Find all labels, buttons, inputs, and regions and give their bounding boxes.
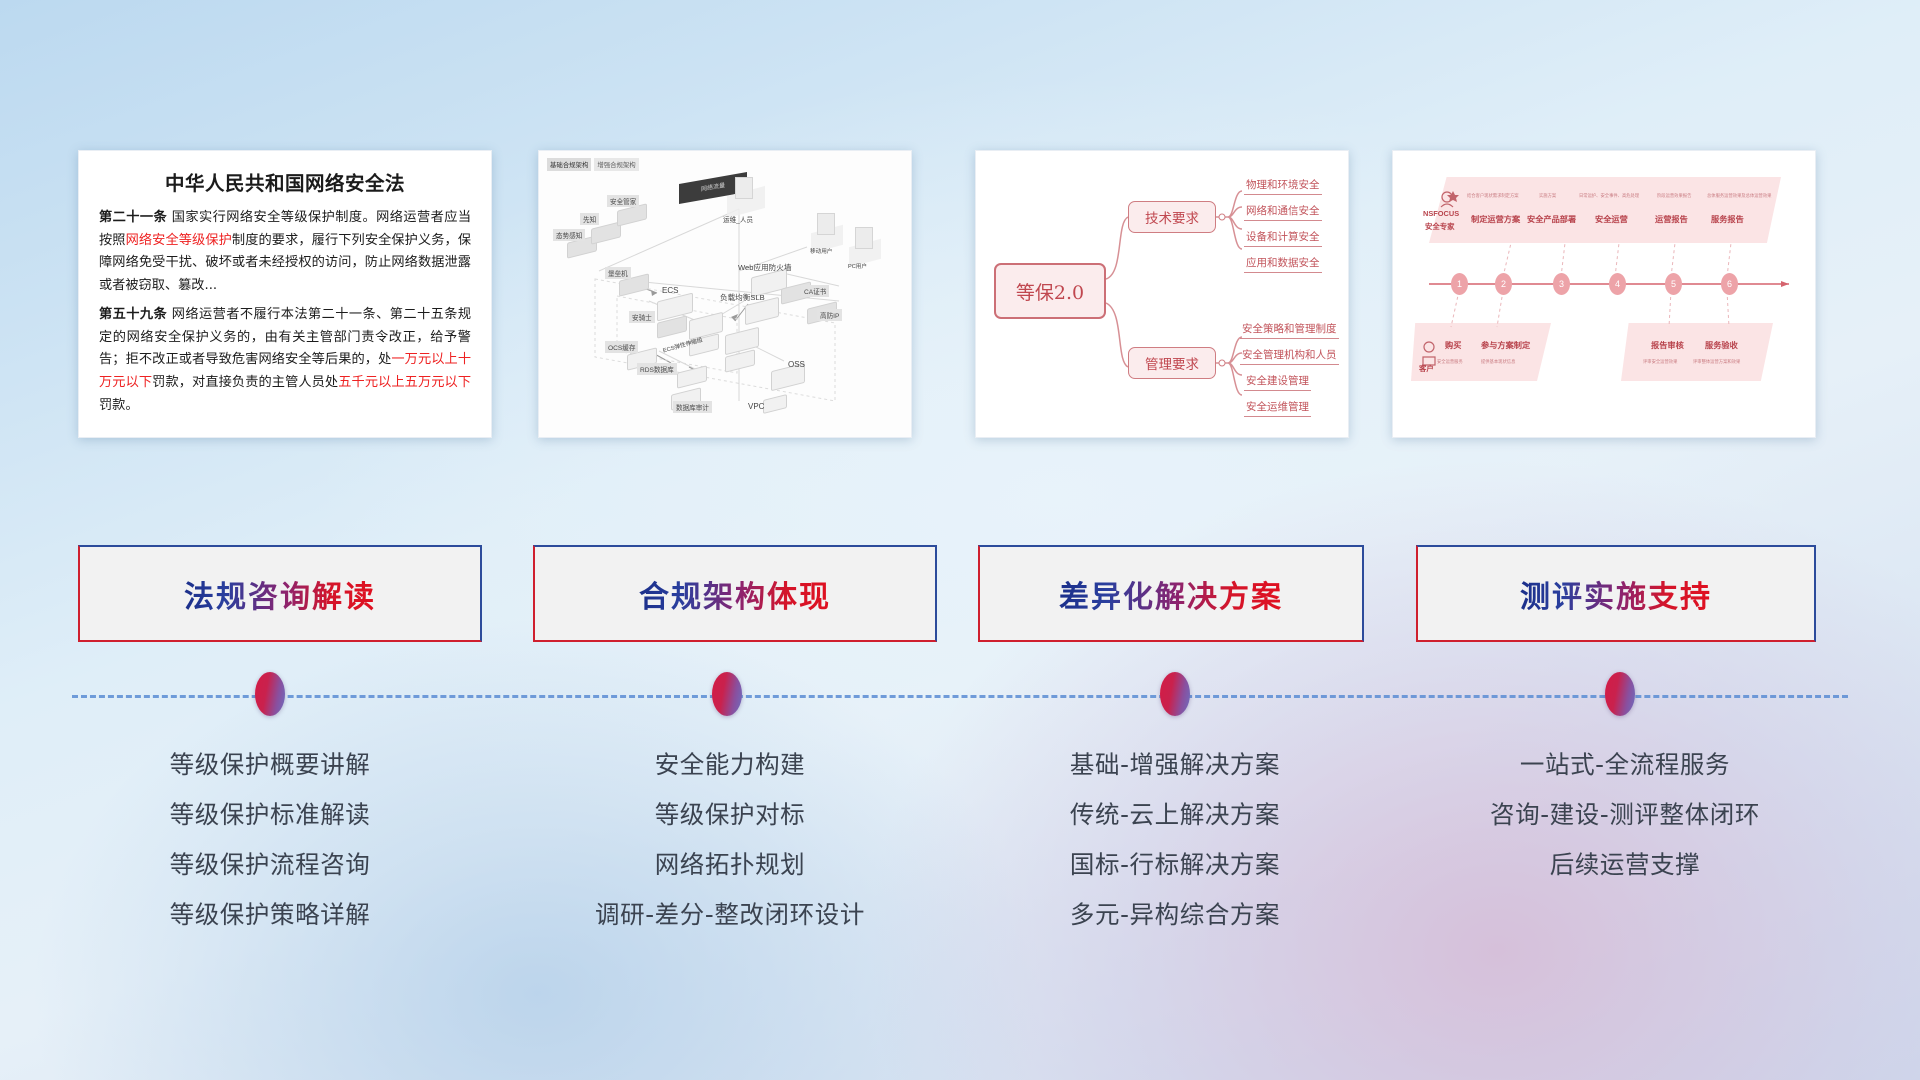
list-item: 等级保护流程咨询 xyxy=(60,840,480,890)
mindmap-diagram: 等保2.0 技术要求 管理要求 物理和环境安全 网络和通信安全 设备和计算安全 … xyxy=(976,151,1348,437)
mindmap-leaf: 网络和通信安全 xyxy=(1244,203,1322,221)
label-db-audit: 数据库审计 xyxy=(673,401,712,413)
law-article-21: 第二十一条 国家实行网络安全等级保护制度。网络运营者应当按照网络安全等级保护制度… xyxy=(99,207,471,298)
label-ocs: OCS缓存 xyxy=(605,341,638,353)
label-situational: 态势感知 xyxy=(553,229,585,241)
heading-box-regulation-consulting[interactable]: 法规咨询解读 xyxy=(78,545,482,642)
label-anqishi: 安骑士 xyxy=(629,311,655,323)
roadmap-step-desc: 阶段运营效果报告 xyxy=(1657,193,1691,199)
label-vpc: VPC xyxy=(745,401,767,412)
preview-card-roadmap[interactable]: NSFOCUS 安全专家 客户 结合客户现状需求制定方案 制定运营方案 实施方案… xyxy=(1392,150,1816,438)
roadmap-step-desc: 总体服务运营效果及总体运营效果 xyxy=(1707,193,1771,199)
roadmap-step-title: 安全运营 xyxy=(1595,213,1628,225)
mindmap-root: 等保2.0 xyxy=(994,263,1106,319)
list-item: 后续运营支撑 xyxy=(1405,840,1845,890)
detail-column-3: 基础-增强解决方案 传统-云上解决方案 国标-行标解决方案 多元-异构综合方案 xyxy=(960,740,1390,940)
roadmap-step-number: 6 xyxy=(1721,273,1738,295)
slide-canvas: 中华人民共和国网络安全法 第二十一条 国家实行网络安全等级保护制度。网络运营者应… xyxy=(0,0,1920,1080)
roadmap-step-title: 服务报告 xyxy=(1711,213,1744,225)
label-xianzhi: 先知 xyxy=(580,213,599,225)
roadmap-step-title: 报告审核 xyxy=(1651,339,1684,351)
cloud-architecture-diagram: 基础合规架构 增强合规架构 xyxy=(539,151,911,437)
label-steward: 安全管家 xyxy=(607,195,639,207)
label-mobile: 移动用户 xyxy=(807,246,835,256)
timeline-dashed-line xyxy=(72,695,1848,698)
mindmap-leaf: 安全运维管理 xyxy=(1244,399,1311,417)
law-article-59: 第五十九条 网络运营者不履行本法第二十一条、第二十五条规定的网络安全保护义务的，… xyxy=(99,304,471,418)
label-rds: RDS数据库 xyxy=(637,363,677,375)
list-item: 国标-行标解决方案 xyxy=(960,840,1390,890)
roadmap-step-number: 5 xyxy=(1665,273,1682,295)
label-gaofang: 高防IP xyxy=(817,309,842,321)
label-pc: PC用户 xyxy=(845,261,870,271)
roadmap-expert-role: 安全专家 xyxy=(1425,221,1455,232)
law-article-21-label: 第二十一条 xyxy=(99,210,167,225)
detail-column-2: 安全能力构建 等级保护对标 网络拓扑规划 调研-差分-整改闭环设计 xyxy=(510,740,950,940)
mindmap-leaf: 安全策略和管理制度 xyxy=(1240,321,1339,339)
mindmap-leaf: 物理和环境安全 xyxy=(1244,177,1322,195)
list-item: 等级保护策略详解 xyxy=(60,890,480,940)
detail-column-1: 等级保护概要讲解 等级保护标准解读 等级保护流程咨询 等级保护策略详解 xyxy=(60,740,480,940)
roadmap-step-desc: 日常运护、安全事件、高危处理 xyxy=(1579,193,1639,199)
roadmap-step-desc: 评审安全运营效果 xyxy=(1643,359,1677,365)
service-roadmap-diagram: NSFOCUS 安全专家 客户 结合客户现状需求制定方案 制定运营方案 实施方案… xyxy=(1393,151,1815,437)
timeline-dot-2[interactable] xyxy=(712,672,742,716)
roadmap-step-number: 1 xyxy=(1451,273,1468,295)
detail-column-4: 一站式-全流程服务 咨询-建设-测评整体闭环 后续运营支撑 xyxy=(1405,740,1845,890)
timeline-dot-4[interactable] xyxy=(1605,672,1635,716)
roadmap-step-desc: 实施方案 xyxy=(1539,193,1556,199)
label-admin: 运维_人员 xyxy=(720,213,756,225)
mindmap-branch-tech: 技术要求 xyxy=(1128,201,1216,233)
law-article-59-label: 第五十九条 xyxy=(99,307,167,322)
heading-label: 合规架构体现 xyxy=(639,572,831,616)
law-document: 中华人民共和国网络安全法 第二十一条 国家实行网络安全等级保护制度。网络运营者应… xyxy=(79,151,491,433)
preview-card-row: 中华人民共和国网络安全法 第二十一条 国家实行网络安全等级保护制度。网络运营者应… xyxy=(0,150,1920,442)
mindmap-leaf: 安全管理机构和人员 xyxy=(1240,347,1339,365)
law-title: 中华人民共和国网络安全法 xyxy=(99,167,471,196)
list-item: 网络拓扑规划 xyxy=(510,840,950,890)
roadmap-step-title: 制定运营方案 xyxy=(1471,213,1520,225)
label-slb: 负载均衡SLB xyxy=(717,291,768,304)
timeline-dot-3[interactable] xyxy=(1160,672,1190,716)
roadmap-step-desc: 结合客户现状需求制定方案 xyxy=(1467,193,1519,199)
heading-label: 法规咨询解读 xyxy=(184,572,376,616)
heading-box-differentiated-solution[interactable]: 差异化解决方案 xyxy=(978,545,1364,642)
label-waf: Web应用防火墙 xyxy=(735,261,794,274)
roadmap-expert-name: NSFOCUS xyxy=(1423,209,1459,218)
list-item: 安全能力构建 xyxy=(510,740,950,790)
roadmap-step-title: 参与方案制定 xyxy=(1481,339,1530,351)
list-item: 等级保护标准解读 xyxy=(60,790,480,840)
roadmap-step-title: 安全产品部署 xyxy=(1527,213,1576,225)
list-item: 咨询-建设-测评整体闭环 xyxy=(1405,790,1845,840)
list-item: 一站式-全流程服务 xyxy=(1405,740,1845,790)
mobile-host-icon xyxy=(817,213,835,235)
heading-label: 测评实施支持 xyxy=(1520,572,1712,616)
detail-column-row: 等级保护概要讲解 等级保护标准解读 等级保护流程咨询 等级保护策略详解 安全能力… xyxy=(0,740,1920,970)
roadmap-step-number: 4 xyxy=(1609,273,1626,295)
roadmap-customer: 客户 xyxy=(1419,363,1434,374)
roadmap-step-desc: 评审整体运营方案和效果 xyxy=(1693,359,1740,365)
preview-card-law[interactable]: 中华人民共和国网络安全法 第二十一条 国家实行网络安全等级保护制度。网络运营者应… xyxy=(78,150,492,438)
preview-card-architecture[interactable]: 基础合规架构 增强合规架构 xyxy=(538,150,912,438)
heading-label: 差异化解决方案 xyxy=(1059,572,1283,616)
roadmap-step-number: 2 xyxy=(1495,273,1512,295)
mindmap-leaf: 应用和数据安全 xyxy=(1244,255,1322,273)
heading-box-row: 法规咨询解读 合规架构体现 差异化解决方案 测评实施支持 xyxy=(0,545,1920,665)
list-item: 等级保护对标 xyxy=(510,790,950,840)
roadmap-step-title: 服务验收 xyxy=(1705,339,1738,351)
timeline xyxy=(0,668,1920,724)
mindmap-leaf: 设备和计算安全 xyxy=(1244,229,1322,247)
list-item: 传统-云上解决方案 xyxy=(960,790,1390,840)
law-article-21-highlight: 网络安全等级保护 xyxy=(126,233,232,248)
label-ecs: ECS xyxy=(659,285,681,296)
label-bastion: 堡垒机 xyxy=(605,267,631,279)
law-article-59-highlight-2: 五千元以上五万元以下 xyxy=(338,375,471,390)
law-article-59-end: 罚款。 xyxy=(99,398,139,413)
heading-box-assessment-support[interactable]: 测评实施支持 xyxy=(1416,545,1816,642)
timeline-dot-1[interactable] xyxy=(255,672,285,716)
roadmap-step-title: 购买 xyxy=(1445,339,1461,351)
list-item: 等级保护概要讲解 xyxy=(60,740,480,790)
preview-card-mindmap[interactable]: 等保2.0 技术要求 管理要求 物理和环境安全 网络和通信安全 设备和计算安全 … xyxy=(975,150,1349,438)
roadmap-step-number: 3 xyxy=(1553,273,1570,295)
label-oss: OSS xyxy=(785,359,808,370)
mindmap-branch-mgmt: 管理要求 xyxy=(1128,347,1216,379)
roadmap-step-desc: 安全运营服务 xyxy=(1437,359,1463,365)
pc-host-icon xyxy=(855,227,873,249)
list-item: 基础-增强解决方案 xyxy=(960,740,1390,790)
admin-host-icon xyxy=(735,177,753,199)
mindmap-leaf: 安全建设管理 xyxy=(1244,373,1311,391)
list-item: 多元-异构综合方案 xyxy=(960,890,1390,940)
label-ca: CA证书 xyxy=(801,285,829,297)
heading-box-compliance-architecture[interactable]: 合规架构体现 xyxy=(533,545,937,642)
law-article-59-mid: 罚款，对直接负责的主管人员处 xyxy=(152,375,338,390)
roadmap-step-desc: 提供基本现状信息 xyxy=(1481,359,1515,365)
roadmap-step-title: 运营报告 xyxy=(1655,213,1688,225)
list-item: 调研-差分-整改闭环设计 xyxy=(510,890,950,940)
